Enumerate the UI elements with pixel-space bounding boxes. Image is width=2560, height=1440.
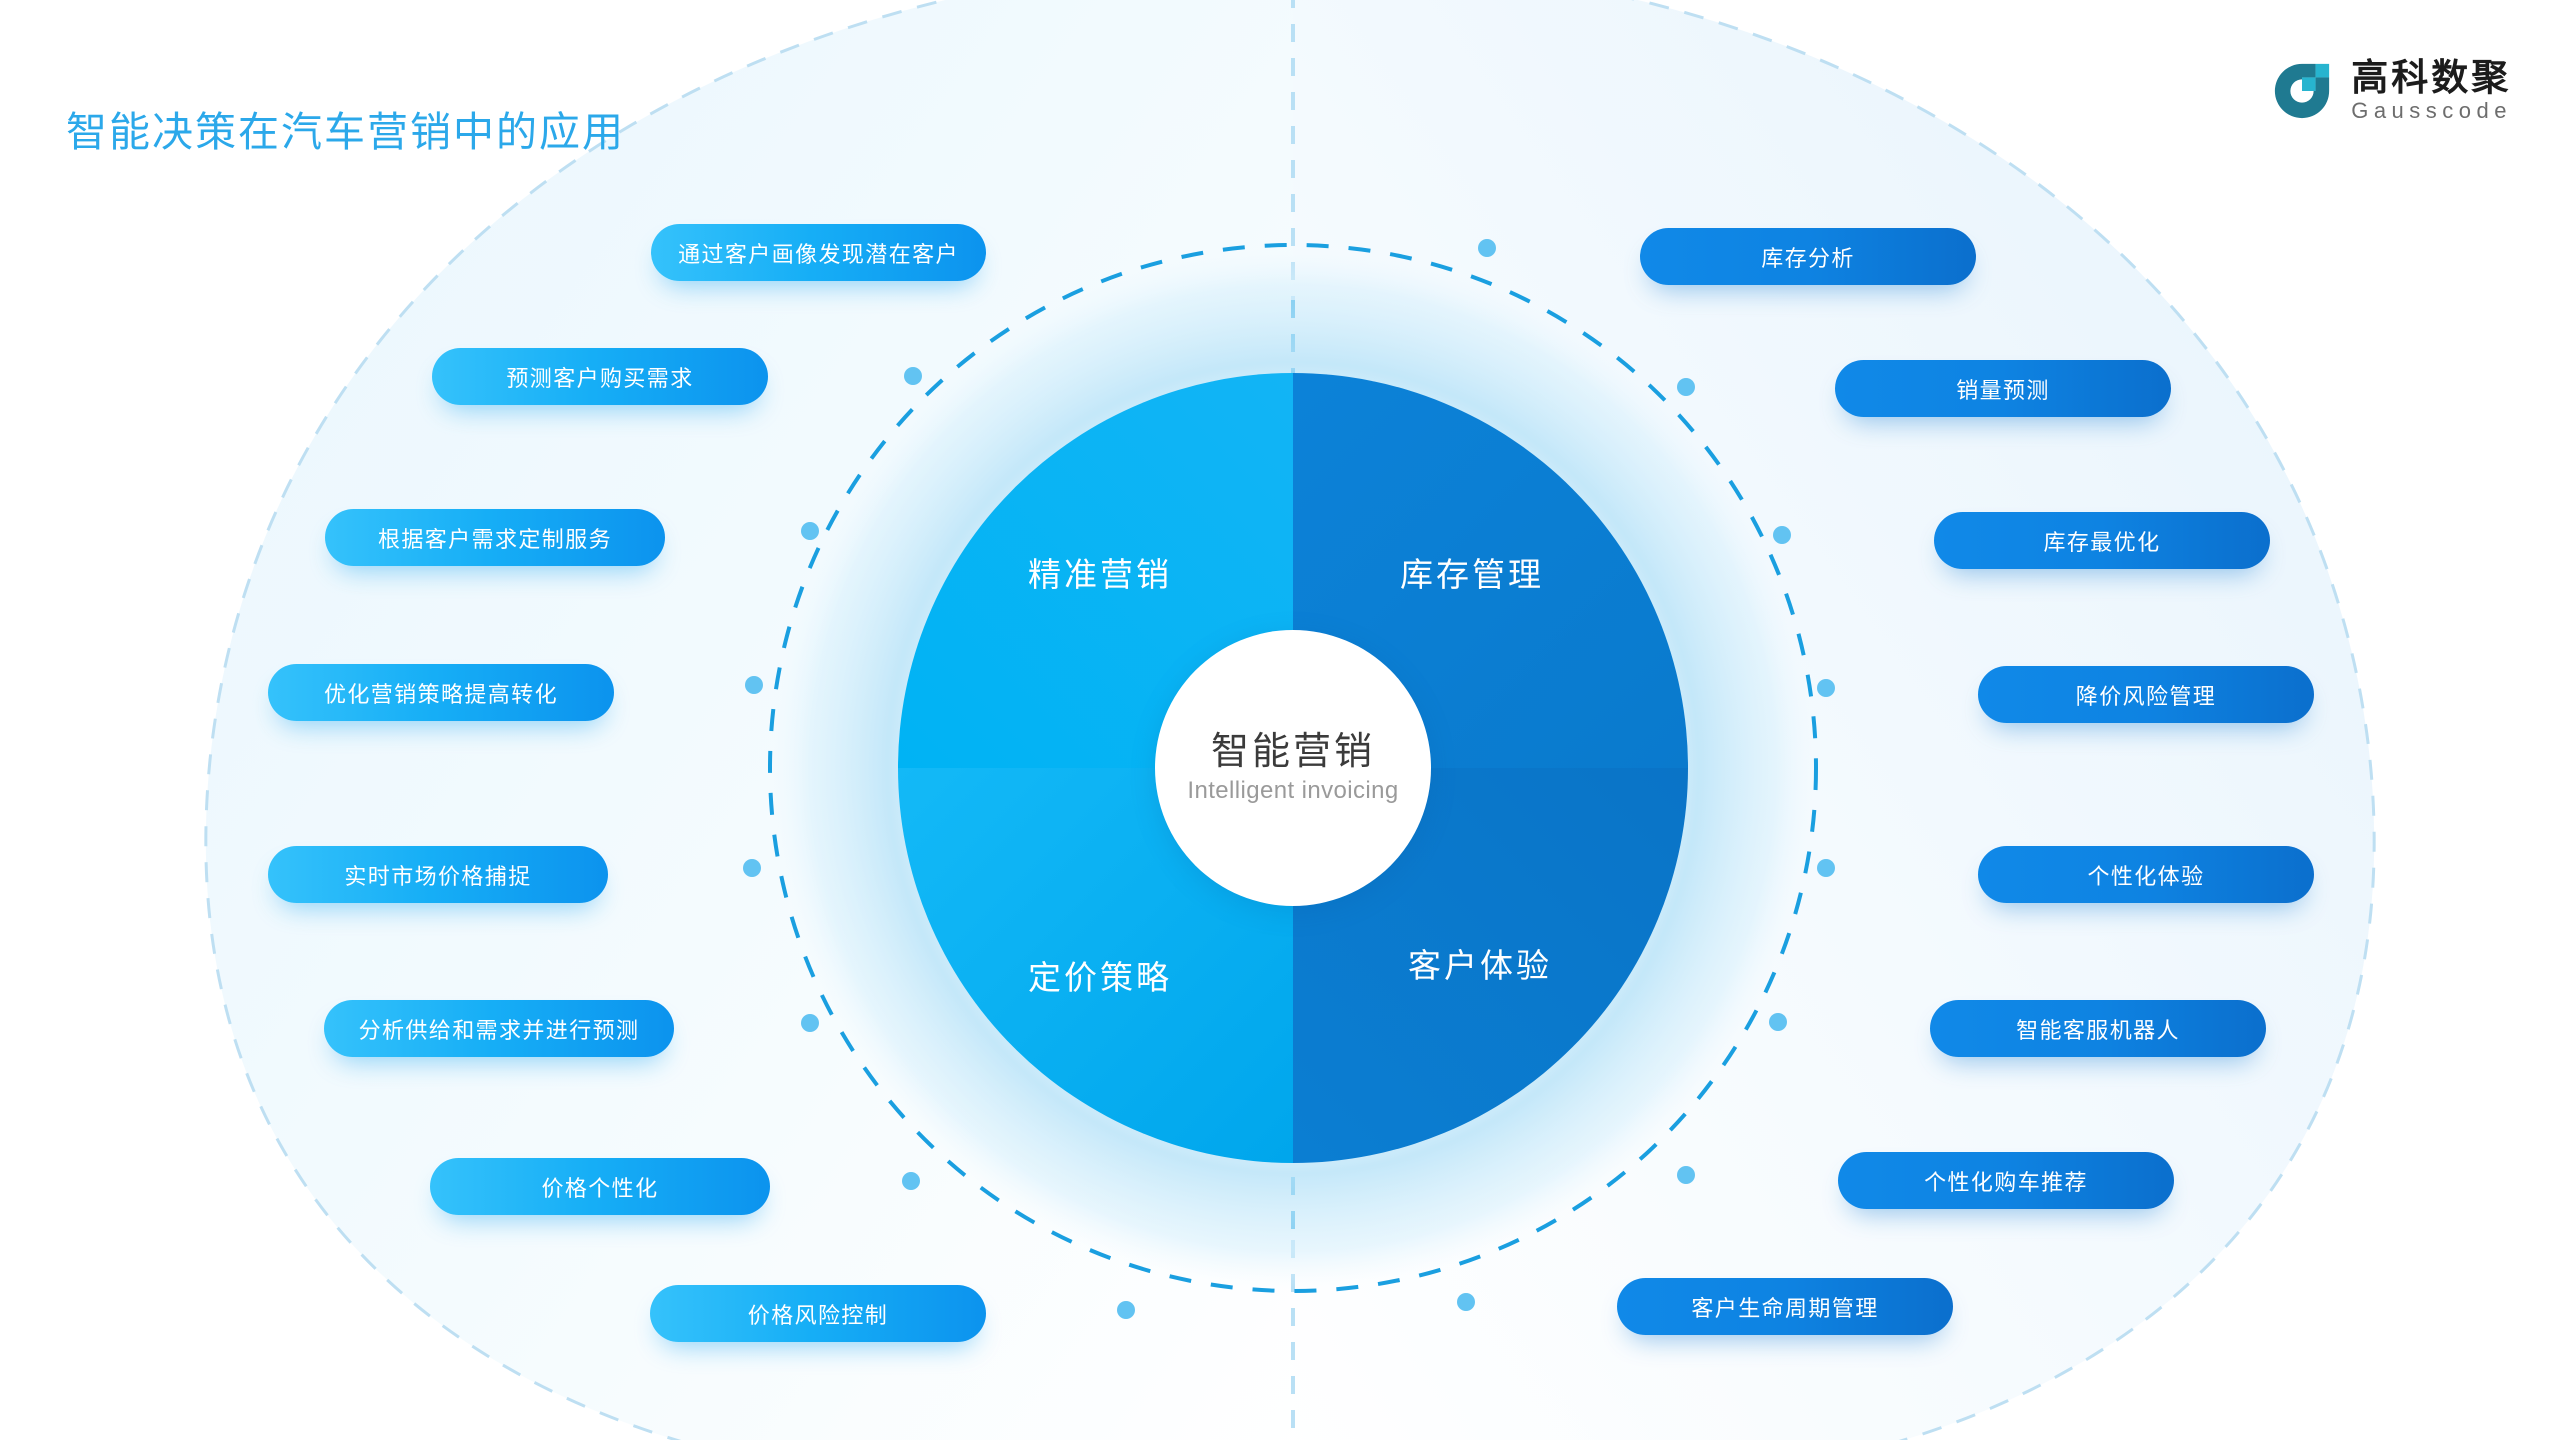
pill-l1[interactable]: 通过客户画像发现潜在客户 xyxy=(651,224,986,281)
pill-r1[interactable]: 库存分析 xyxy=(1640,228,1976,285)
gausscode-logo-icon xyxy=(2271,60,2333,122)
logo-title-en: Gausscode xyxy=(2351,97,2512,125)
pill-r5[interactable]: 个性化体验 xyxy=(1978,846,2314,903)
center-hub: 智能营销 Intelligent invoicing xyxy=(1155,630,1431,906)
pill-l7[interactable]: 价格个性化 xyxy=(430,1158,770,1215)
pill-r2[interactable]: 销量预测 xyxy=(1835,360,2171,417)
pill-l5[interactable]: 实时市场价格捕捉 xyxy=(268,846,608,903)
pill-r7[interactable]: 个性化购车推荐 xyxy=(1838,1152,2174,1209)
pill-l8[interactable]: 价格风险控制 xyxy=(650,1285,986,1342)
pill-r3[interactable]: 库存最优化 xyxy=(1934,512,2270,569)
pill-l4[interactable]: 优化营销策略提高转化 xyxy=(268,664,614,721)
page-title: 智能决策在汽车营销中的应用 xyxy=(66,98,625,158)
pill-l2[interactable]: 预测客户购买需求 xyxy=(432,348,768,405)
pill-l6[interactable]: 分析供给和需求并进行预测 xyxy=(324,1000,674,1057)
quadrant-label-pricing-strategy: 定价策略 xyxy=(1028,951,1172,999)
pill-r4[interactable]: 降价风险管理 xyxy=(1978,666,2314,723)
infographic-canvas: 智能决策在汽车营销中的应用 高科数聚 Gausscode 智能营销 Intell… xyxy=(0,0,2560,1440)
pill-r6[interactable]: 智能客服机器人 xyxy=(1930,1000,2266,1057)
hub-title-cn: 智能营销 xyxy=(1211,733,1375,771)
logo-title-cn: 高科数聚 xyxy=(2351,58,2512,97)
hub-title-en: Intelligent invoicing xyxy=(1187,779,1398,803)
quadrant-label-inventory-management: 库存管理 xyxy=(1400,548,1544,596)
quadrant-label-precision-marketing: 精准营销 xyxy=(1028,548,1172,596)
pill-r8[interactable]: 客户生命周期管理 xyxy=(1617,1278,1953,1335)
brand-logo: 高科数聚 Gausscode xyxy=(2271,58,2512,125)
pill-l3[interactable]: 根据客户需求定制服务 xyxy=(325,509,665,566)
quadrant-label-customer-experience: 客户体验 xyxy=(1408,939,1552,987)
